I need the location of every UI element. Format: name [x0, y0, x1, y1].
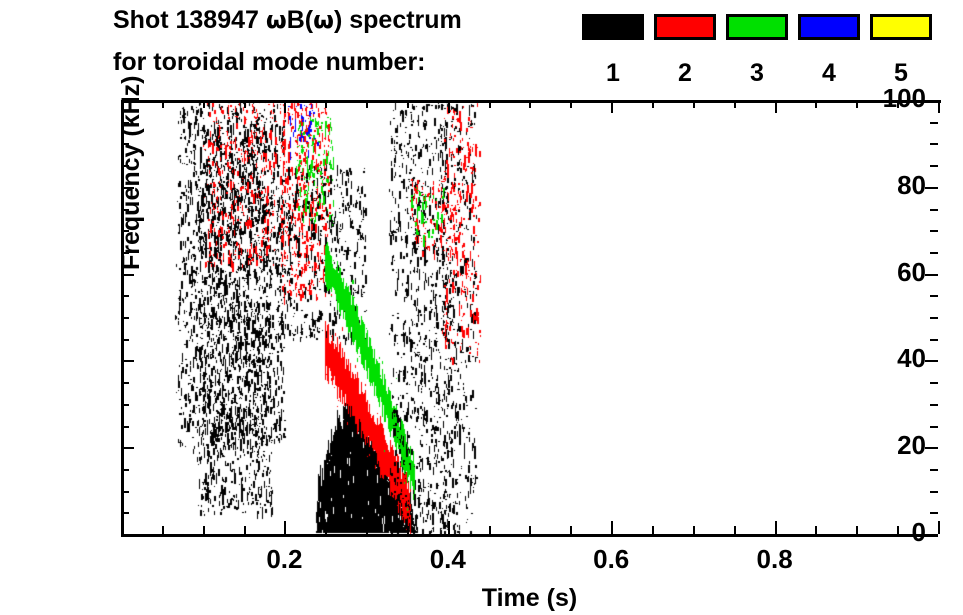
legend-label-4: 4: [798, 60, 860, 86]
x-tick: [775, 521, 777, 534]
x-tick-top: [775, 100, 777, 113]
y-tick-label: 20: [897, 432, 926, 458]
x-tick: [162, 526, 164, 534]
y-tick: [121, 404, 129, 406]
x-tick: [244, 526, 246, 534]
x-axis-title: Time (s): [430, 584, 630, 613]
figure-title-line-1: Shot 138947 ωB(ω) spectrum: [113, 6, 462, 35]
x-tick-top: [203, 100, 205, 108]
x-tick-top: [529, 100, 531, 108]
x-tick: [611, 521, 613, 534]
x-tick-top: [938, 100, 940, 113]
axes-frame: [121, 100, 941, 537]
x-tick-label: 0.4: [408, 546, 488, 572]
y-tick-right: [925, 534, 938, 536]
legend-swatch-4: [798, 14, 860, 40]
x-tick-top: [448, 100, 450, 113]
y-tick-right: [930, 426, 938, 428]
y-tick: [121, 317, 129, 319]
y-tick-label: 0: [912, 519, 926, 545]
y-tick-right: [930, 143, 938, 145]
legend-label-2: 2: [654, 60, 716, 86]
y-tick-right: [930, 122, 938, 124]
y-tick: [121, 491, 129, 493]
x-tick: [203, 526, 205, 534]
y-tick: [121, 426, 129, 428]
y-tick-right: [930, 209, 938, 211]
x-tick-top: [325, 100, 327, 108]
y-tick-right: [925, 360, 938, 362]
y-tick-right: [930, 404, 938, 406]
x-tick: [570, 526, 572, 534]
x-tick-top: [693, 100, 695, 108]
x-tick: [734, 526, 736, 534]
x-tick-top: [815, 100, 817, 108]
y-tick-right: [930, 382, 938, 384]
legend-swatch-2: [654, 14, 716, 40]
y-tick-right: [930, 295, 938, 297]
y-tick: [121, 295, 129, 297]
y-tick: [121, 469, 129, 471]
plot-area: 020406080100 0.20.40.60.8 Frequency (kHz…: [121, 100, 938, 534]
y-tick-right: [930, 230, 938, 232]
legend-label-3: 3: [726, 60, 788, 86]
x-tick: [897, 526, 899, 534]
y-tick-right: [930, 469, 938, 471]
y-tick-label: 80: [897, 172, 926, 198]
y-tick-right: [925, 447, 938, 449]
legend-swatch-5: [870, 14, 932, 40]
x-tick: [815, 526, 817, 534]
x-tick-label: 0.6: [571, 546, 651, 572]
x-tick-top: [611, 100, 613, 113]
y-tick: [121, 382, 129, 384]
omega-symbol-2: ω: [313, 6, 334, 34]
title-spectrum-text: ) spectrum: [334, 6, 462, 34]
x-tick: [325, 526, 327, 534]
y-tick-label: 40: [897, 345, 926, 371]
x-axis-line-bottom: [121, 534, 938, 537]
y-tick-right: [930, 252, 938, 254]
y-axis-title: Frequency (kHz): [117, 76, 146, 270]
x-tick-label: 0.2: [244, 546, 324, 572]
x-tick: [489, 526, 491, 534]
x-tick: [652, 526, 654, 534]
x-tick: [366, 526, 368, 534]
y-tick-right: [930, 339, 938, 341]
y-tick-label: 60: [897, 259, 926, 285]
x-tick: [856, 526, 858, 534]
x-tick-top: [652, 100, 654, 108]
mode-number-legend: 12345: [582, 14, 938, 90]
title-b-text: B(: [287, 6, 313, 34]
legend-swatch-3: [726, 14, 788, 40]
x-tick-top: [284, 100, 286, 113]
y-tick: [121, 274, 134, 276]
y-tick-right: [930, 512, 938, 514]
y-tick: [121, 360, 134, 362]
x-tick: [407, 526, 409, 534]
title-shot-text: Shot 138947: [113, 6, 266, 34]
y-tick: [121, 447, 134, 449]
x-tick-label: 0.8: [735, 546, 815, 572]
y-tick-right: [930, 165, 938, 167]
figure-title-line-2: for toroidal mode number:: [113, 48, 426, 77]
x-tick-top: [734, 100, 736, 108]
x-tick-top: [162, 100, 164, 108]
x-tick-top: [407, 100, 409, 108]
omega-symbol-1: ω: [266, 6, 287, 34]
x-tick: [284, 521, 286, 534]
y-tick-right: [925, 274, 938, 276]
legend-swatch-1: [582, 14, 644, 40]
y-tick: [121, 534, 134, 536]
x-tick-top: [244, 100, 246, 108]
x-tick: [938, 521, 940, 534]
x-tick-top: [856, 100, 858, 108]
x-tick-top: [489, 100, 491, 108]
spectrogram-figure: Shot 138947 ωB(ω) spectrum for toroidal …: [0, 0, 963, 615]
y-tick: [121, 512, 129, 514]
x-tick-top: [570, 100, 572, 108]
y-tick-right: [925, 100, 938, 102]
x-tick: [121, 521, 123, 534]
x-tick-top: [366, 100, 368, 108]
y-tick-label: 100: [883, 85, 926, 111]
legend-label-1: 1: [582, 60, 644, 86]
x-tick: [693, 526, 695, 534]
x-tick: [529, 526, 531, 534]
y-tick-right: [930, 491, 938, 493]
y-tick: [121, 339, 129, 341]
y-tick-right: [930, 317, 938, 319]
y-tick-right: [925, 187, 938, 189]
x-tick: [448, 521, 450, 534]
